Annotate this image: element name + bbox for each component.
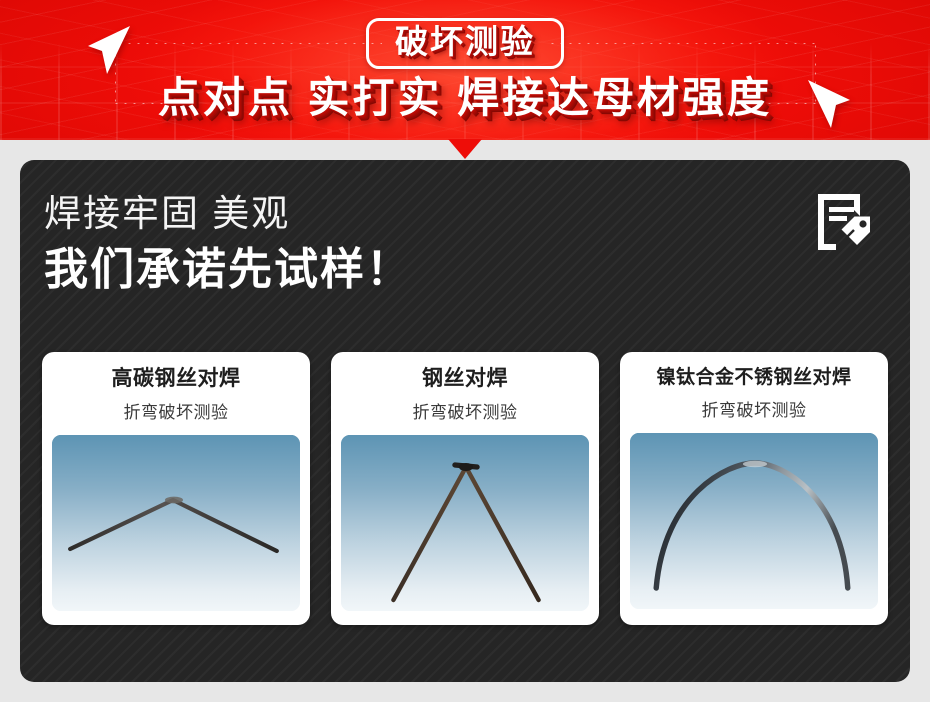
card-title: 钢丝对焊 (341, 366, 589, 392)
panel-heading-line-2: 我们承诺先试样！ (44, 242, 412, 297)
page-root: 破坏测验 点对点 实打实 焊接达母材强度 焊接牢固 美观 我们承诺先试样！ 高 (0, 0, 930, 702)
header-subtitle: 点对点 实打实 焊接达母材强度 (0, 64, 930, 125)
content-panel: 焊接牢固 美观 我们承诺先试样！ 高碳钢丝对焊 折弯破坏测验 (20, 160, 910, 682)
panel-heading: 焊接牢固 美观 我们承诺先试样！ (44, 192, 412, 297)
panel-heading-line-1: 焊接牢固 美观 (44, 192, 412, 236)
card-photo-bent-wire-steep (341, 435, 589, 611)
header-notch (448, 139, 482, 159)
card-photo-bent-wire-arc (630, 433, 878, 609)
header-banner: 破坏测验 点对点 实打实 焊接达母材强度 (0, 0, 930, 140)
product-card[interactable]: 钢丝对焊 折弯破坏测验 (331, 352, 599, 625)
product-card[interactable]: 镍钛合金不锈钢丝对焊 折弯破坏测验 (620, 352, 888, 625)
dotted-line-top-right (548, 40, 816, 44)
card-subtitle: 折弯破坏测验 (630, 396, 878, 421)
product-card-row: 高碳钢丝对焊 折弯破坏测验 (42, 352, 888, 625)
card-title: 高碳钢丝对焊 (52, 366, 300, 392)
header-title-text: 破坏测验 (395, 25, 535, 58)
card-subtitle: 折弯破坏测验 (341, 398, 589, 423)
card-title: 镍钛合金不锈钢丝对焊 (630, 366, 878, 390)
dotted-line-top-left (116, 40, 382, 44)
document-tag-icon (810, 190, 874, 254)
card-photo-bent-wire-shallow (52, 435, 300, 611)
product-card[interactable]: 高碳钢丝对焊 折弯破坏测验 (42, 352, 310, 625)
card-subtitle: 折弯破坏测验 (52, 398, 300, 423)
header-title-badge: 破坏测验 (366, 18, 564, 69)
